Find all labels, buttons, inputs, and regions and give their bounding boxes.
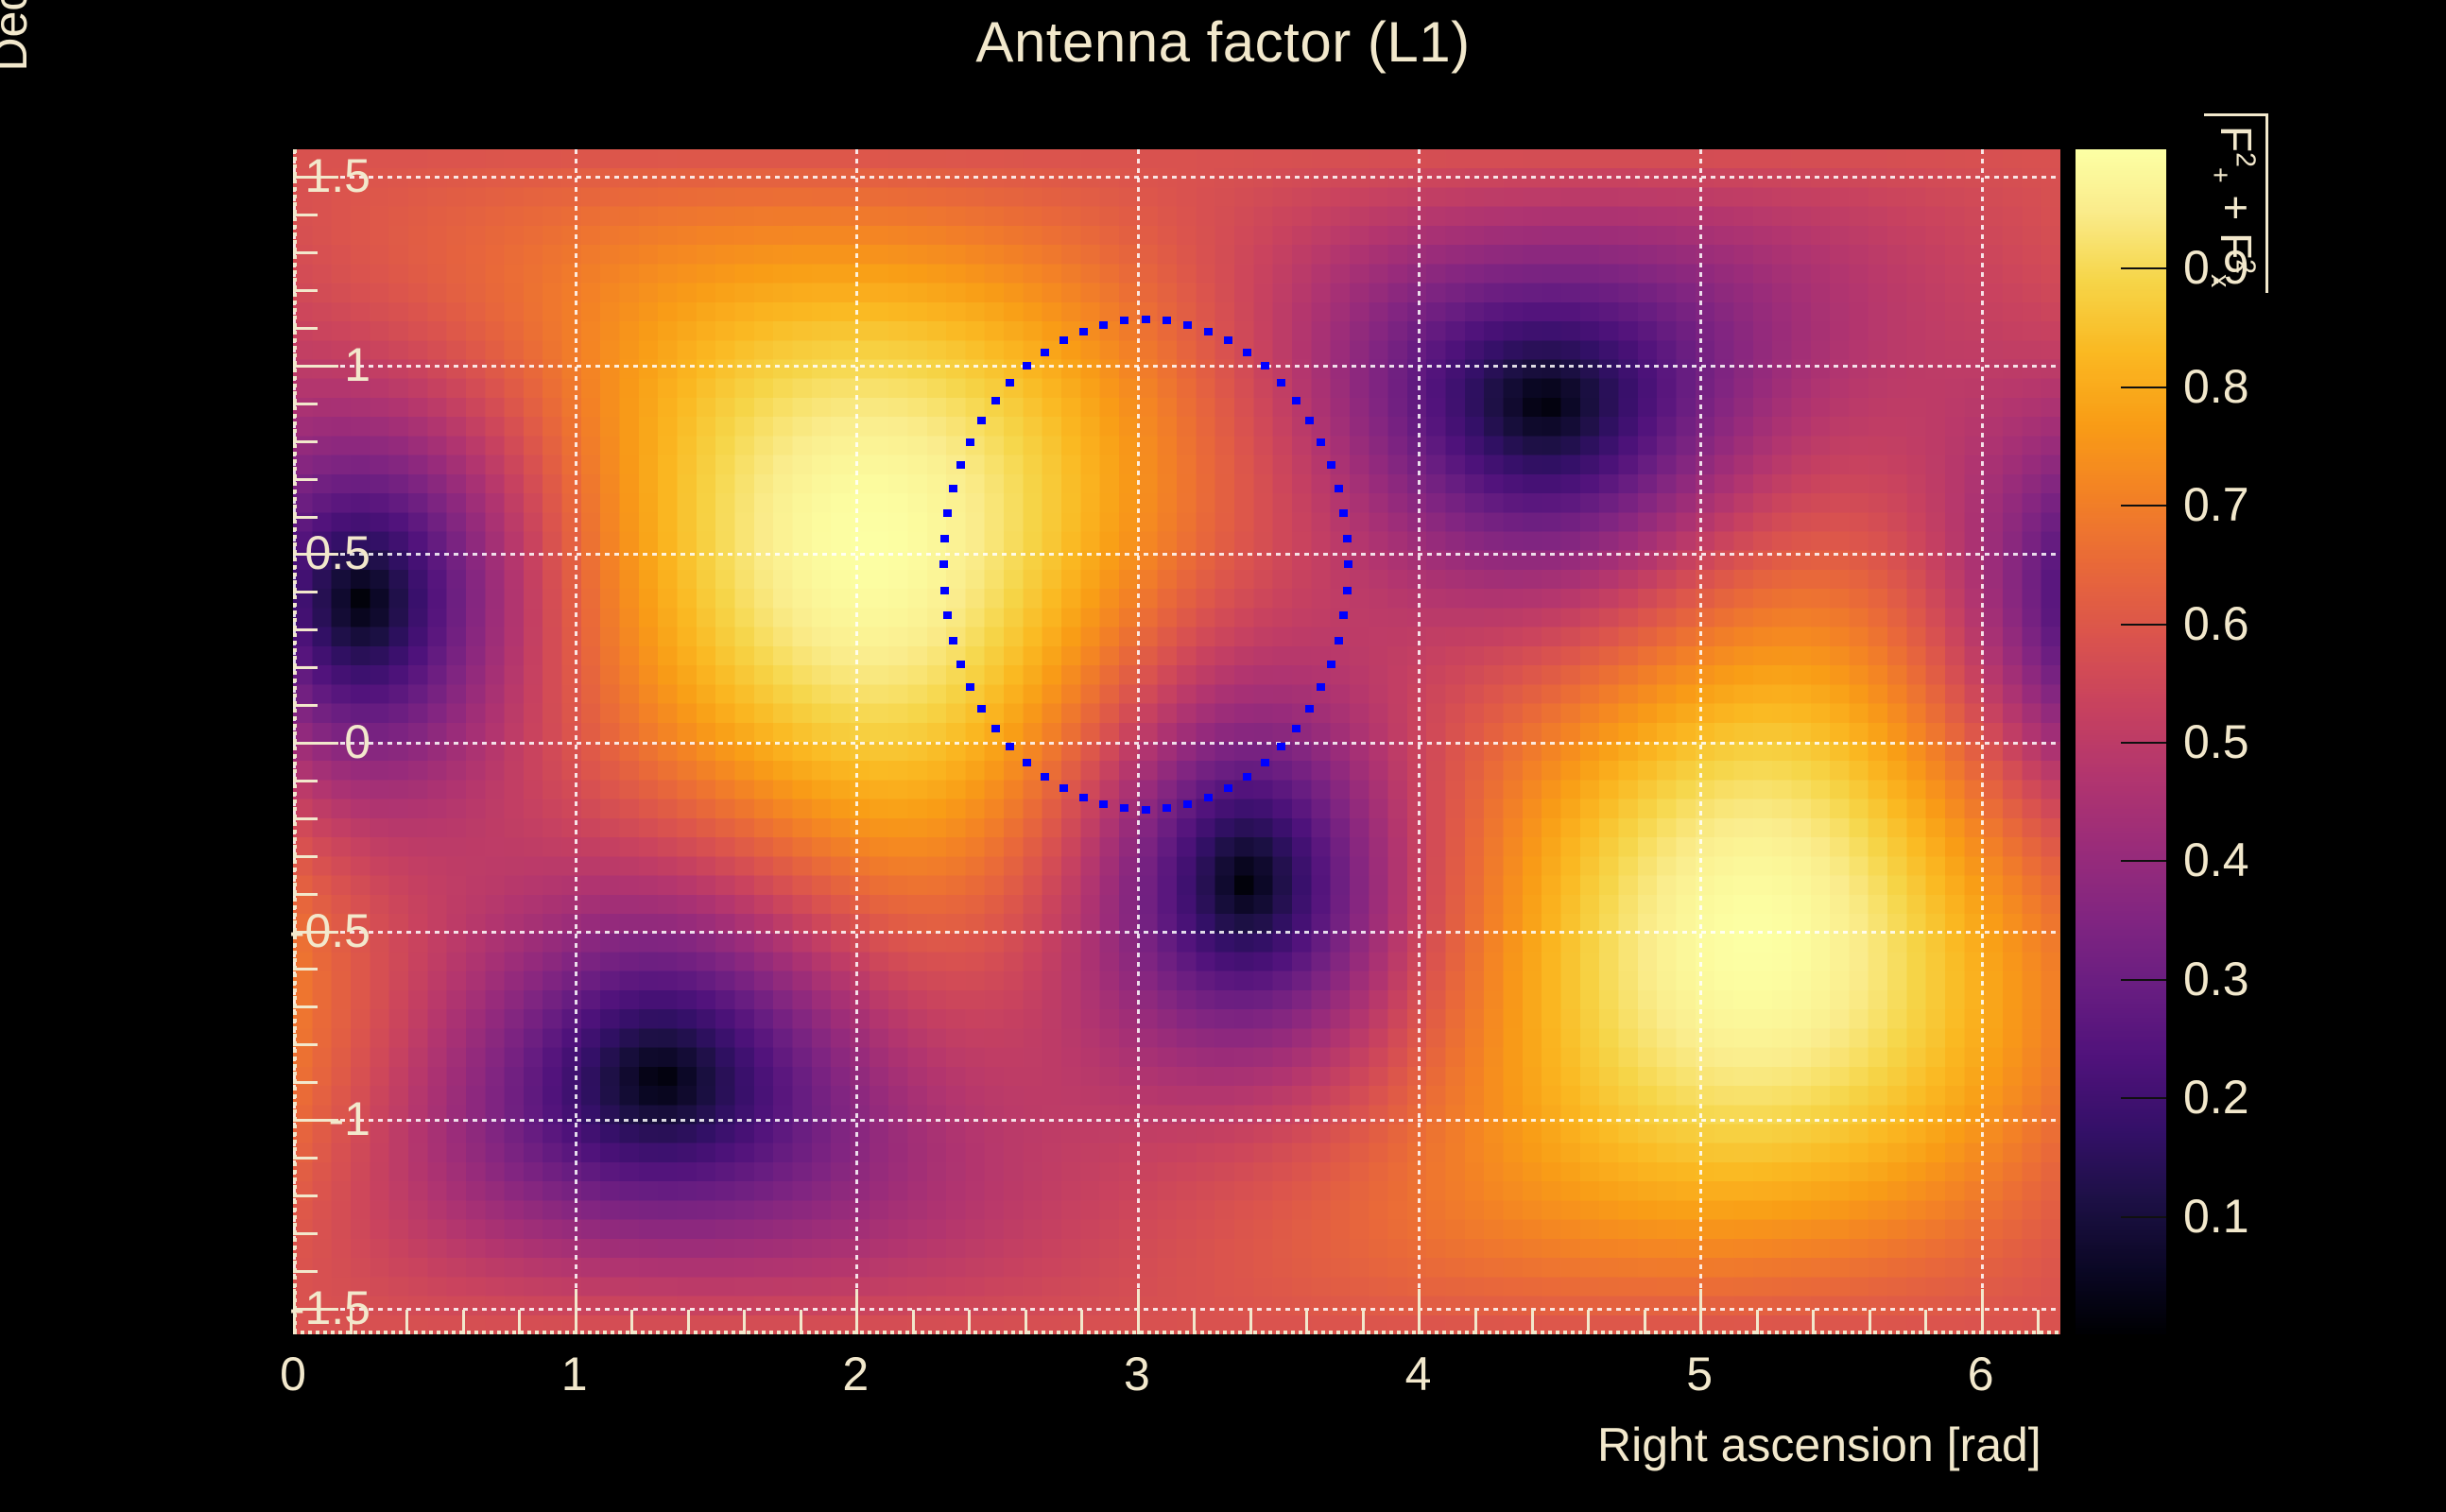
x-axis-tick-label: 0 <box>280 1347 306 1401</box>
x-axis-tick-label: 1 <box>561 1347 588 1401</box>
contour-dot <box>949 637 957 644</box>
contour-dot <box>956 461 965 469</box>
y-axis-tick-label: 1 <box>344 337 370 392</box>
contour-dot <box>1335 485 1343 492</box>
contour-dot <box>1243 773 1251 781</box>
z-term-b: F2x <box>2212 232 2261 287</box>
contour-dot <box>966 438 974 446</box>
colorbar-tick <box>2121 387 2166 388</box>
colorbar-tick <box>2121 1216 2166 1218</box>
y-axis-tick-label: 1.5 <box>304 148 370 203</box>
x-axis-title: Right ascension [rad] <box>1597 1417 2041 1472</box>
contour-dot <box>1343 587 1352 594</box>
contour-dot <box>977 705 986 713</box>
contour-dot <box>1317 438 1325 446</box>
y-axis-tick-label: -1 <box>329 1091 370 1146</box>
y-axis-title: Declination [rad] <box>0 0 38 165</box>
contour-dot <box>1344 560 1352 568</box>
colorbar-tick <box>2121 742 2166 744</box>
contour-dot <box>1120 317 1128 324</box>
z-plus: + <box>2212 183 2261 232</box>
contour-dot <box>1099 321 1108 329</box>
contour-dot <box>1305 417 1314 424</box>
contour-dot <box>1243 349 1251 356</box>
colorbar-tick <box>2121 979 2166 981</box>
colorbar-tick-label: 0.1 <box>2183 1189 2249 1244</box>
contour-dot <box>1079 794 1088 801</box>
contour-dot <box>1006 743 1014 750</box>
contour-dot <box>943 611 952 619</box>
x-axis-tick-label: 6 <box>1968 1347 1994 1401</box>
plot-canvas: Antenna factor (L1) 1.510.50-0.5-1-1.5 0… <box>0 0 2446 1512</box>
contour-dot <box>940 535 949 542</box>
contour-dot <box>977 417 986 424</box>
colorbar[interactable] <box>2076 149 2166 1334</box>
contour-dot <box>1277 379 1285 387</box>
x-axis-tick-label: 4 <box>1405 1347 1432 1401</box>
contour-dot <box>1292 725 1301 732</box>
colorbar-tick <box>2121 267 2166 269</box>
contour-dot <box>1059 336 1068 344</box>
contour-dot <box>1099 800 1108 808</box>
contour-dot <box>1163 317 1171 324</box>
colorbar-tick-label: 0.3 <box>2183 952 2249 1006</box>
contour-dot <box>1142 806 1150 814</box>
contour-dot <box>1041 773 1049 781</box>
contour-dot <box>1305 705 1314 713</box>
radical-sign: F2+ + F2x <box>2204 113 2268 293</box>
contour-dot <box>939 560 948 568</box>
contour-dot <box>1006 379 1014 387</box>
z-term-a: F2+ <box>2212 126 2261 183</box>
colorbar-tick <box>2121 860 2166 862</box>
contour-dot <box>956 661 965 668</box>
y-axis-tick-label: -0.5 <box>289 903 370 958</box>
contour-dot <box>1142 316 1150 323</box>
contour-dot <box>1079 328 1088 335</box>
colorbar-title: F2+ + F2x <box>2204 113 2268 416</box>
y-axis-tick-label: 0.5 <box>304 525 370 580</box>
contour-dot <box>1059 784 1068 792</box>
y-axis-tick-label: 0 <box>344 714 370 769</box>
contour-dot <box>1023 759 1031 766</box>
x-axis-tick-label: 5 <box>1686 1347 1713 1401</box>
contour-dot <box>1261 362 1269 369</box>
contour-dot <box>943 509 952 517</box>
contour-dot <box>1183 321 1192 329</box>
contour-dot <box>1163 804 1171 812</box>
contour-dot <box>1277 743 1285 750</box>
contour-dot <box>1335 637 1343 644</box>
contour-dot <box>1224 784 1232 792</box>
contour-dot <box>1317 683 1325 691</box>
page-title: Antenna factor (L1) <box>0 9 2446 75</box>
contour-dot <box>1292 397 1301 404</box>
x-axis-tick-label: 3 <box>1124 1347 1150 1401</box>
contour-dot <box>991 397 1000 404</box>
colorbar-tick <box>2121 505 2166 507</box>
colorbar-tick-label: 0.4 <box>2183 833 2249 887</box>
colorbar-tick-label: 0.2 <box>2183 1070 2249 1125</box>
contour-dot <box>940 587 949 594</box>
heatmap-plot-area[interactable] <box>293 149 2060 1334</box>
contour-dot <box>1327 461 1335 469</box>
contour-dot <box>991 725 1000 732</box>
colorbar-tick <box>2121 1097 2166 1099</box>
contour-dot <box>1343 535 1352 542</box>
contour-dot <box>1224 336 1232 344</box>
contour-dot <box>1183 800 1192 808</box>
colorbar-tick-label: 0.6 <box>2183 596 2249 651</box>
contour-dot <box>949 485 957 492</box>
contour-dot <box>1339 509 1348 517</box>
contour-dot <box>1204 328 1213 335</box>
contour-dot <box>1204 794 1213 801</box>
x-axis-tick-label: 2 <box>842 1347 869 1401</box>
contour-dot <box>1120 804 1128 812</box>
sky-localization-contour <box>293 149 2060 1334</box>
contour-dot <box>1023 362 1031 369</box>
contour-dot <box>1041 349 1049 356</box>
contour-dot <box>1339 611 1348 619</box>
y-axis-tick-label: -1.5 <box>289 1280 370 1335</box>
colorbar-tick-label: 0.5 <box>2183 714 2249 769</box>
colorbar-tick-label: 0.7 <box>2183 477 2249 532</box>
contour-dot <box>1327 661 1335 668</box>
colorbar-tick <box>2121 624 2166 626</box>
contour-dot <box>1261 759 1269 766</box>
contour-dot <box>966 683 974 691</box>
